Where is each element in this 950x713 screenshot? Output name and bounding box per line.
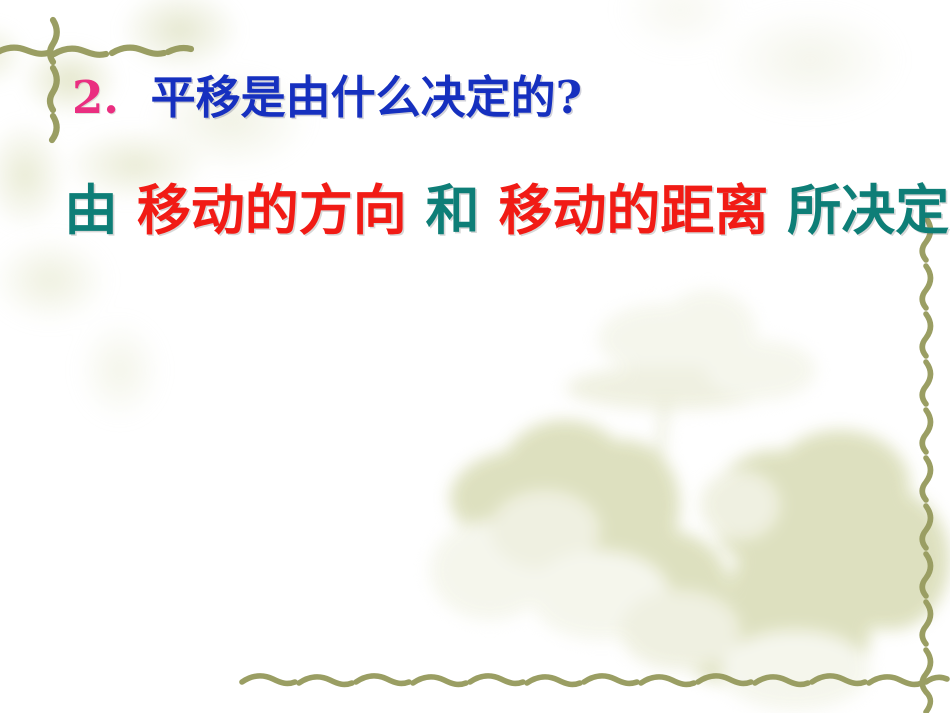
watermark-top-left-flowers: [0, 0, 350, 290]
answer-segment-1: 由: [64, 178, 118, 242]
question-number: 2.: [72, 71, 119, 124]
answer-segment-5: 所决定: [787, 178, 949, 242]
answer-segment-2-direction: 移动的方向: [137, 178, 407, 242]
wavy-cross-ornament-vertical: [38, 16, 68, 144]
wavy-horizontal-border: [238, 666, 950, 696]
wavy-vertical-border: [910, 214, 942, 698]
slide-canvas: 2. 平移是由什么决定的? 由 移动的方向 和 移动的距离 所决定 ．: [0, 0, 950, 713]
answer-line: 由 移动的方向 和 移动的距离 所决定 ．: [64, 182, 950, 239]
answer-segment-3-conjunction: 和: [426, 178, 480, 242]
question-text: 平移是由什么决定的?: [151, 71, 582, 124]
watermark-bottom-right-flowers: [470, 300, 950, 713]
wavy-cross-ornament-horizontal: [0, 36, 204, 66]
question-line: 2. 平移是由什么决定的?: [72, 74, 582, 121]
wavy-border-corner-stub: [910, 690, 942, 713]
answer-segment-4-distance: 移动的距离: [498, 178, 768, 242]
